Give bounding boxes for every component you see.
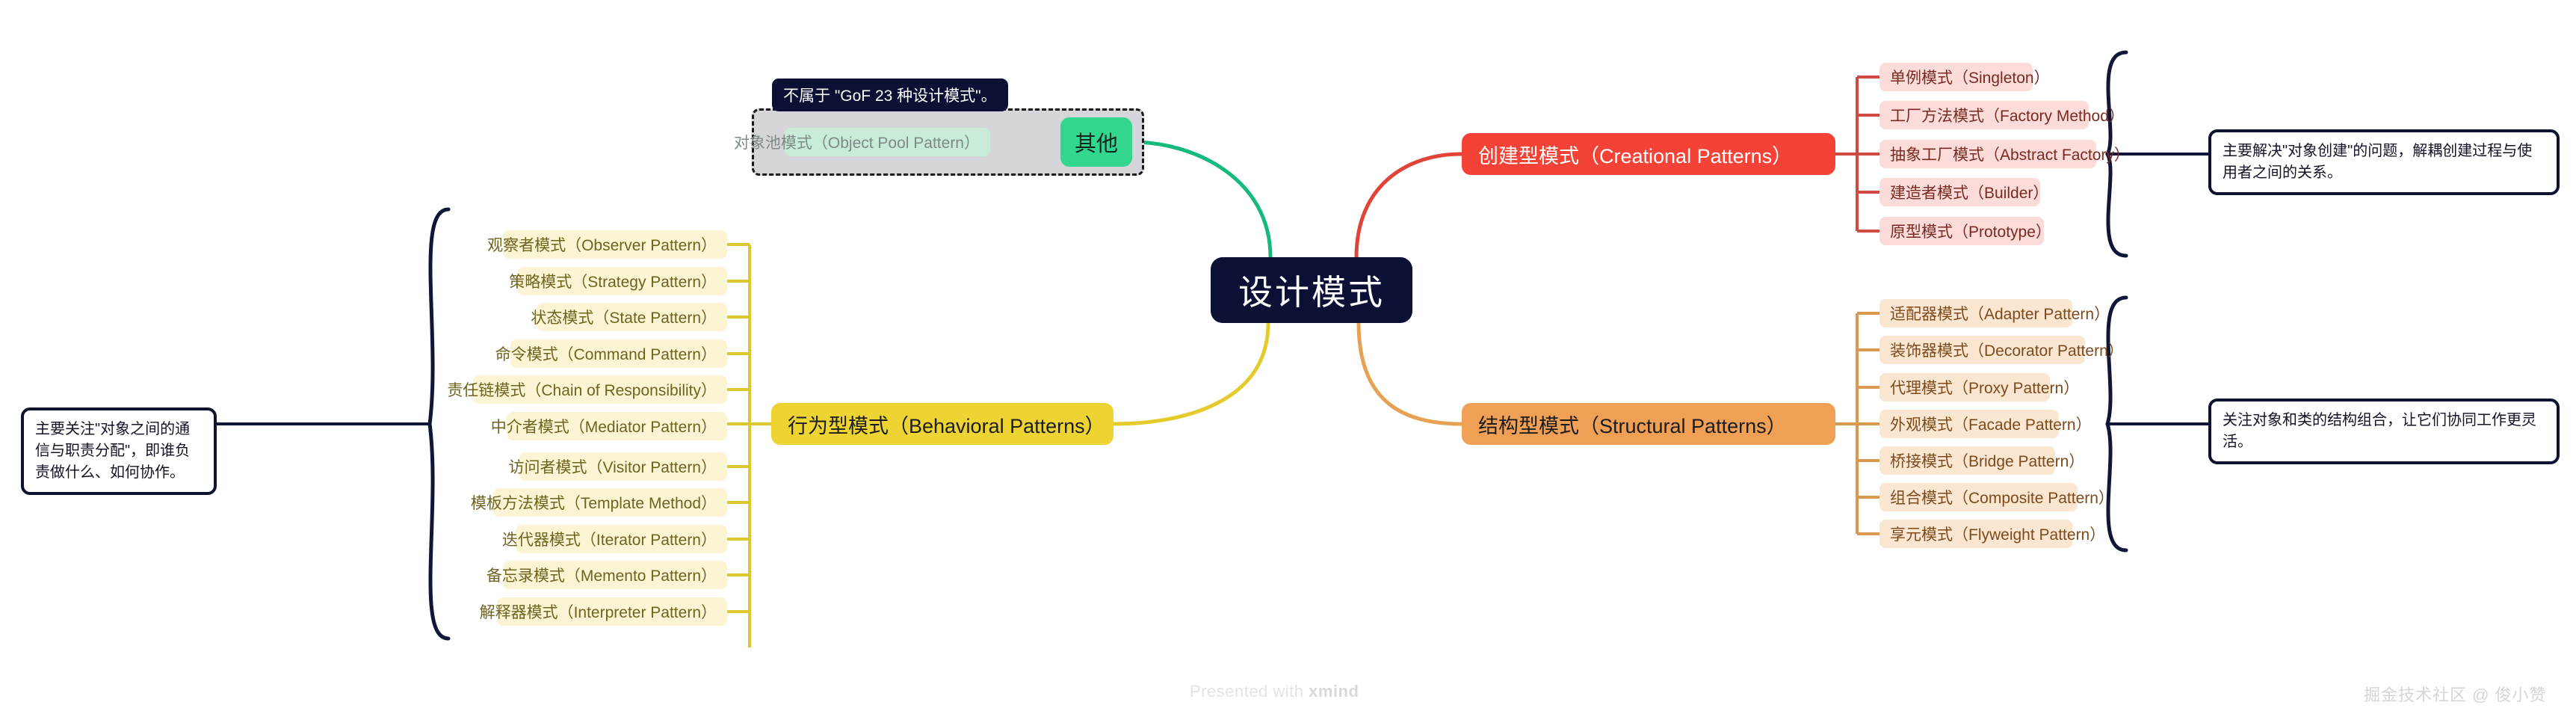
tooltip-other: 不属于 "GoF 23 种设计模式"。: [772, 79, 1008, 111]
watermark-author: 掘金技术社区 @ 俊小赞: [2364, 682, 2547, 706]
leaf-observer[interactable]: 观察者模式（Observer Pattern）: [503, 230, 727, 259]
wire-behavioral-twigs: [727, 244, 750, 612]
branch-node-behavioral[interactable]: 行为型模式（Behavioral Patterns）: [771, 403, 1114, 445]
bracket-behavioral: [430, 209, 448, 639]
leaf-adapter[interactable]: 适配器模式（Adapter Pattern）: [1880, 299, 2072, 327]
leaf-strategy[interactable]: 策略模式（Strategy Pattern）: [518, 267, 727, 295]
note-creational: 主要解决"对象创建"的问题，解耦创建过程与使用者之间的关系。: [2208, 129, 2560, 195]
leaf-template-method[interactable]: 模板方法模式（Template Method）: [493, 488, 727, 517]
note-behavioral: 主要关注"对象之间的通信与职责分配"，即谁负责做什么、如何协作。: [21, 407, 217, 495]
mindmap-canvas: 不属于 "GoF 23 种设计模式"。 设计模式 其他 对象池模式（Object…: [0, 0, 2576, 723]
leaf-memento[interactable]: 备忘录模式（Memento Pattern）: [503, 561, 727, 589]
leaf-decorator[interactable]: 装饰器模式（Decorator Pattern）: [1880, 336, 2085, 364]
watermark-xmind-prefix: Presented with: [1190, 682, 1309, 701]
branch-node-other[interactable]: 其他: [1060, 117, 1132, 167]
leaf-builder[interactable]: 建造者模式（Builder）: [1880, 178, 2040, 206]
branch-node-structural[interactable]: 结构型模式（Structural Patterns）: [1462, 403, 1835, 445]
wire-root-behavioral: [1114, 323, 1268, 424]
leaf-facade[interactable]: 外观模式（Facade Pattern）: [1880, 410, 2059, 438]
leaf-singleton[interactable]: 单例模式（Singleton）: [1880, 63, 2033, 91]
leaf-composite[interactable]: 组合模式（Composite Pattern）: [1880, 483, 2078, 511]
wire-root-structural: [1359, 323, 1462, 424]
wire-root-creational: [1356, 154, 1462, 257]
leaf-command[interactable]: 命令模式（Command Pattern）: [510, 339, 727, 368]
bracket-structural: [2107, 298, 2126, 550]
wire-root-other: [1132, 142, 1270, 257]
leaf-mediator[interactable]: 中介者模式（Mediator Pattern）: [507, 412, 727, 440]
leaf-flyweight[interactable]: 享元模式（Flyweight Pattern）: [1880, 520, 2072, 548]
watermark-xmind-brand: xmind: [1309, 682, 1359, 701]
leaf-state[interactable]: 状态模式（State Pattern）: [537, 303, 727, 331]
leaf-factory-method[interactable]: 工厂方法模式（Factory Method）: [1880, 101, 2089, 129]
leaf-visitor[interactable]: 访问者模式（Visitor Pattern）: [519, 452, 727, 481]
wire-creational-twigs: [1857, 77, 1880, 231]
leaf-abstract-factory[interactable]: 抽象工厂模式（Abstract Factory）: [1880, 140, 2096, 168]
leaf-interpreter[interactable]: 解释器模式（Interpreter Pattern）: [497, 597, 727, 626]
leaf-object-pool[interactable]: 对象池模式（Object Pool Pattern）: [785, 128, 990, 156]
branch-node-creational[interactable]: 创建型模式（Creational Patterns）: [1462, 133, 1835, 175]
note-structural: 关注对象和类的结构组合，让它们协同工作更灵活。: [2208, 399, 2560, 464]
leaf-iterator[interactable]: 迭代器模式（Iterator Pattern）: [516, 525, 727, 553]
leaf-proxy[interactable]: 代理模式（Proxy Pattern）: [1880, 373, 2050, 402]
leaf-chain-of-responsibility[interactable]: 责任链模式（Chain of Responsibility）: [473, 375, 727, 404]
leaf-prototype[interactable]: 原型模式（Prototype）: [1880, 217, 2044, 245]
watermark-xmind: Presented with xmind: [1190, 682, 1359, 701]
wire-structural-twigs: [1857, 313, 1880, 534]
leaf-bridge[interactable]: 桥接模式（Bridge Pattern）: [1880, 446, 2055, 475]
root-node[interactable]: 设计模式: [1211, 257, 1412, 323]
connector-layer: [0, 0, 2576, 723]
